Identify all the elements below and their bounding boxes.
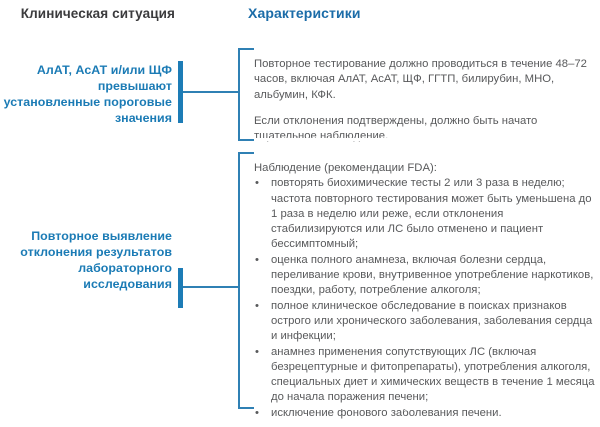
list-item: • анамнез применения сопутствующих ЛС (в… bbox=[254, 345, 596, 406]
list-item: • повторять биохимические тесты 2 или 3 … bbox=[254, 176, 596, 252]
list-item: • исключение фонового заболевания печени… bbox=[254, 406, 596, 421]
bullet-icon: • bbox=[255, 176, 259, 191]
bullet-list: • повторять биохимические тесты 2 или 3 … bbox=[254, 176, 596, 421]
bullet-icon: • bbox=[255, 253, 259, 268]
list-item-text: оценка полного анамнеза, включая болезни… bbox=[271, 254, 593, 297]
content-bracket: Наблюдение (рекомендации FDA): • повторя… bbox=[238, 152, 598, 409]
paragraph: Повторное тестирование должно проводитьс… bbox=[254, 57, 596, 103]
list-lead-text: Наблюдение (рекомендации FDA): bbox=[254, 161, 596, 176]
header-row: Клиническая ситуация Характеристики bbox=[0, 0, 600, 44]
diagram-sheet: Клиническая ситуация Характеристики АлАТ… bbox=[0, 0, 600, 414]
content-body: Повторное тестирование должно проводитьс… bbox=[240, 50, 598, 150]
paragraph: Если отклонения подтверждены, должно быт… bbox=[254, 114, 596, 145]
row-label-alt-ast-alp: АлАТ, АсАТ и/или ЩФ превышают установлен… bbox=[0, 62, 172, 127]
column-header-clinical-situation: Клиническая ситуация bbox=[0, 5, 175, 22]
list-item: • полное клиническое обследование в поис… bbox=[254, 299, 596, 345]
row-marker-bar bbox=[178, 268, 183, 308]
list-item-text: полное клиническое обследование в поиска… bbox=[271, 300, 592, 343]
list-item-text: повторять биохимические тесты 2 или 3 ра… bbox=[271, 177, 592, 250]
content-body: Наблюдение (рекомендации FDA): • повторя… bbox=[240, 154, 598, 427]
list-item-text: анамнез применения сопутствующих ЛС (вкл… bbox=[271, 346, 595, 404]
list-item: • оценка полного анамнеза, включая болез… bbox=[254, 253, 596, 299]
row-connector-line bbox=[183, 286, 238, 288]
row-label-repeat-abnormal-lab: Повторное выявление отклонения результат… bbox=[0, 228, 172, 293]
list-item-text: исключение фонового заболевания печени. bbox=[271, 407, 502, 419]
row-connector-line bbox=[183, 91, 238, 93]
content-bracket: Повторное тестирование должно проводитьс… bbox=[238, 48, 598, 141]
bullet-icon: • bbox=[255, 299, 259, 314]
column-header-characteristics: Характеристики bbox=[248, 5, 588, 23]
bullet-icon: • bbox=[255, 345, 259, 360]
bullet-icon: • bbox=[255, 406, 259, 421]
